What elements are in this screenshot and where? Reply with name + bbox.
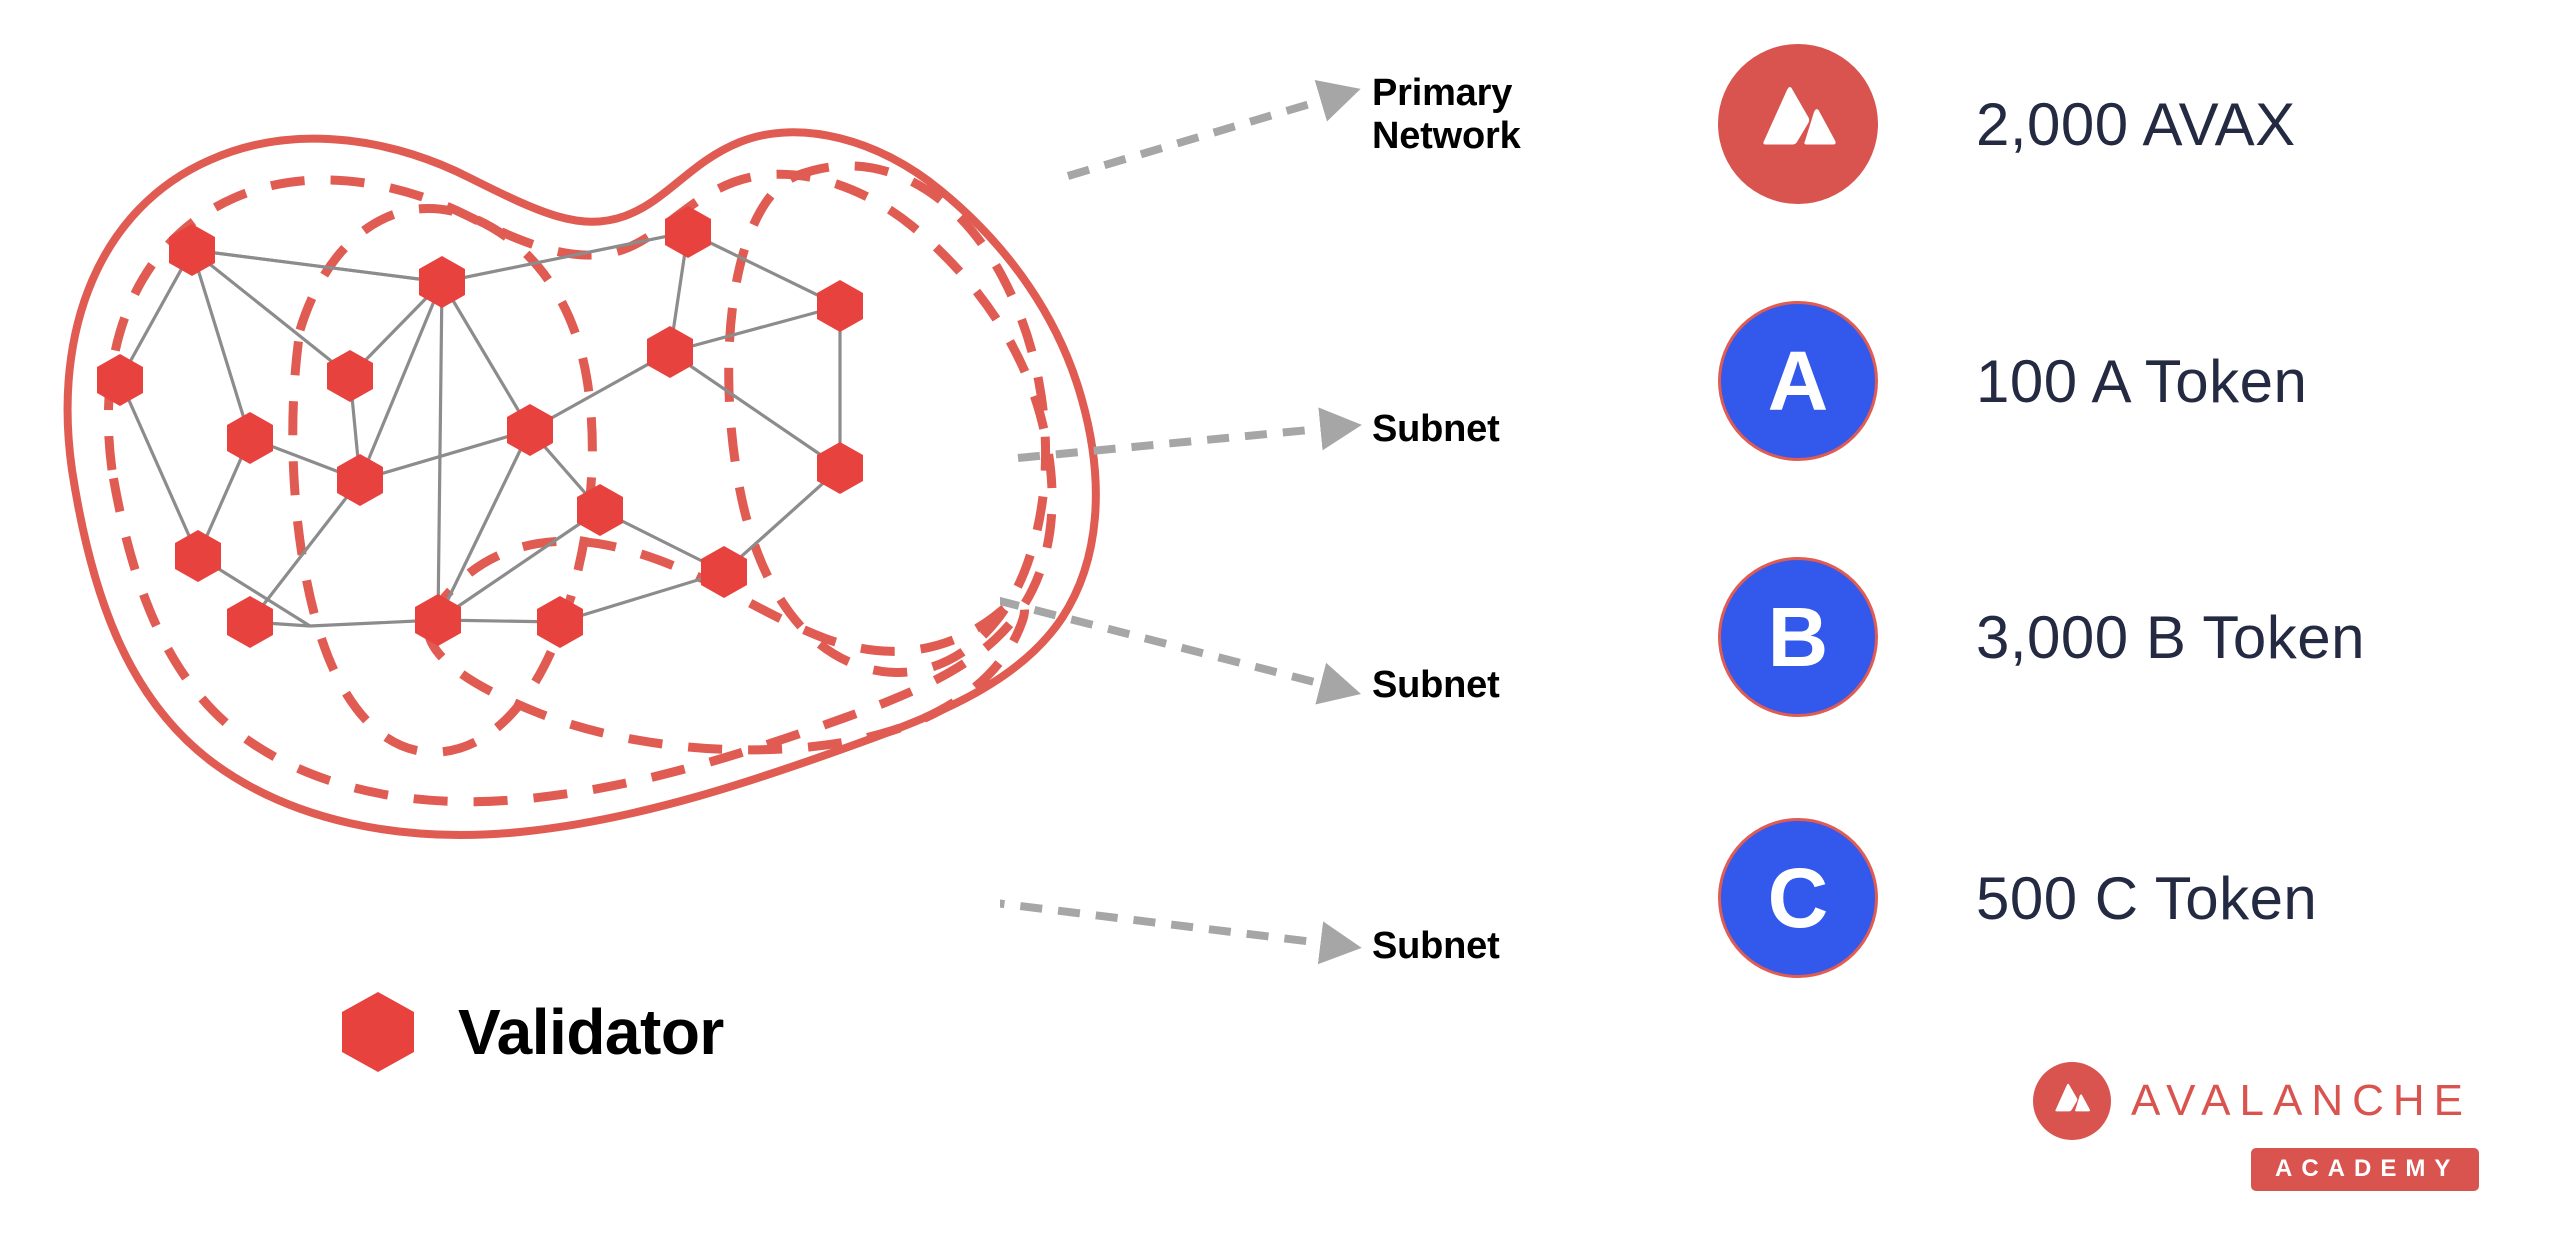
stake-row-subnet-c: C 500 C Token xyxy=(1718,818,2317,978)
avalanche-logo-icon xyxy=(2033,1062,2111,1140)
callout-arrows xyxy=(1000,0,1420,1050)
arrow-subnet-a xyxy=(1018,428,1330,458)
label-subnet-a: Subnet xyxy=(1372,408,1500,451)
validator-legend: Validator xyxy=(340,990,724,1074)
subnet-b-badge: B xyxy=(1718,557,1878,717)
stake-amount-subnet-b: 3,000 B Token xyxy=(1976,603,2365,672)
arrow-subnet-b xyxy=(1000,534,1330,686)
avalanche-academy-logo: AVALANCHE ACADEMY xyxy=(2033,1062,2479,1191)
validator-nodes xyxy=(97,206,863,648)
validator-node xyxy=(701,546,747,598)
validator-node xyxy=(817,442,863,494)
stake-amount-primary-network: 2,000 AVAX xyxy=(1976,90,2296,159)
brand-wordmark: AVALANCHE xyxy=(2131,1079,2472,1123)
subnet-b-badge-letter: B xyxy=(1768,595,1829,679)
diagram-canvas: Primary Network Subnet Subnet Subnet 2,0… xyxy=(0,0,2558,1258)
label-primary-network: Primary Network xyxy=(1372,72,1521,157)
label-subnet-b: Subnet xyxy=(1372,664,1500,707)
arrow-primary-network xyxy=(1068,98,1330,176)
arrow-subnet-c xyxy=(1000,846,1330,944)
validator-node xyxy=(665,206,711,258)
stake-row-subnet-b: B 3,000 B Token xyxy=(1718,557,2365,717)
validator-node xyxy=(415,594,461,646)
validator-legend-label: Validator xyxy=(458,995,724,1069)
validator-node xyxy=(227,412,273,464)
validator-node xyxy=(537,596,583,648)
stake-amount-subnet-a: 100 A Token xyxy=(1976,347,2307,416)
subnet-a-badge-letter: A xyxy=(1768,339,1829,423)
avax-logo-icon xyxy=(1718,44,1878,204)
validator-node xyxy=(97,354,143,406)
brand-top-row: AVALANCHE xyxy=(2033,1062,2479,1140)
stake-amount-subnet-c: 500 C Token xyxy=(1976,864,2317,933)
validator-node xyxy=(647,326,693,378)
validator-node xyxy=(817,280,863,332)
subnet-c-badge: C xyxy=(1718,818,1878,978)
stake-row-primary-network: 2,000 AVAX xyxy=(1718,44,2296,204)
stake-row-subnet-a: A 100 A Token xyxy=(1718,301,2307,461)
subnet-a-badge: A xyxy=(1718,301,1878,461)
hexagon-icon xyxy=(340,990,416,1074)
brand-academy-label: ACADEMY xyxy=(2275,1157,2459,1181)
subnet-c-badge-letter: C xyxy=(1768,856,1829,940)
validator-node xyxy=(175,530,221,582)
brand-academy-badge: ACADEMY xyxy=(2251,1148,2479,1191)
label-subnet-c: Subnet xyxy=(1372,925,1500,968)
